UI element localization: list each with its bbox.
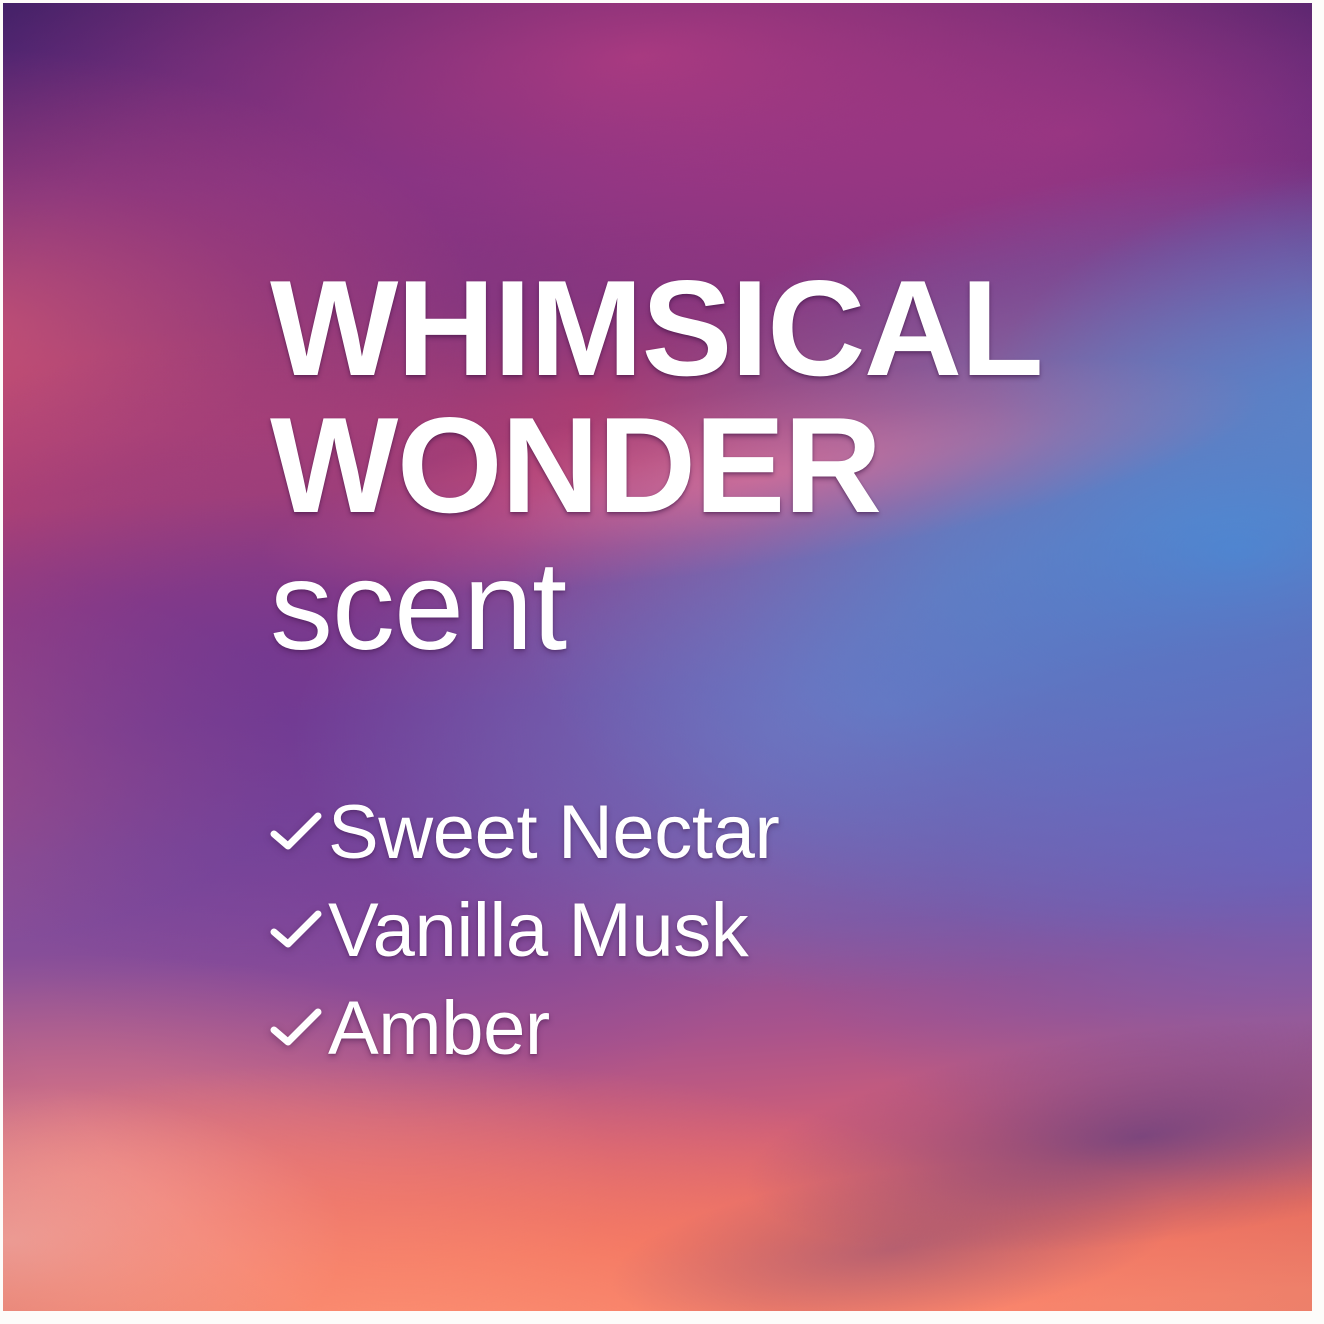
check-icon: [270, 812, 328, 854]
list-item: Vanilla Musk: [270, 882, 1230, 980]
check-icon: [270, 1008, 328, 1050]
scent-note-label: Vanilla Musk: [328, 893, 748, 969]
list-item: Amber: [270, 980, 1230, 1078]
scent-notes-list: Sweet Nectar Vanilla Musk Amber: [270, 784, 1230, 1078]
headline-block: WHIMSICAL WONDER scent: [270, 262, 1230, 669]
subhead-scent: scent: [270, 543, 1230, 669]
scent-note-label: Sweet Nectar: [328, 795, 779, 871]
headline-line-2: WONDER: [270, 399, 1230, 532]
headline-line-1: WHIMSICAL: [270, 262, 1230, 395]
frame-edge-right: [1312, 0, 1324, 1324]
frame-edge-left: [0, 0, 3, 1324]
list-item: Sweet Nectar: [270, 784, 1230, 882]
frame-edge-bottom: [0, 1311, 1324, 1324]
frame-edge-top: [0, 0, 1324, 3]
product-scent-banner: WHIMSICAL WONDER scent Sweet Nectar Vani…: [0, 0, 1324, 1324]
check-icon: [270, 910, 328, 952]
scent-note-label: Amber: [328, 991, 550, 1067]
